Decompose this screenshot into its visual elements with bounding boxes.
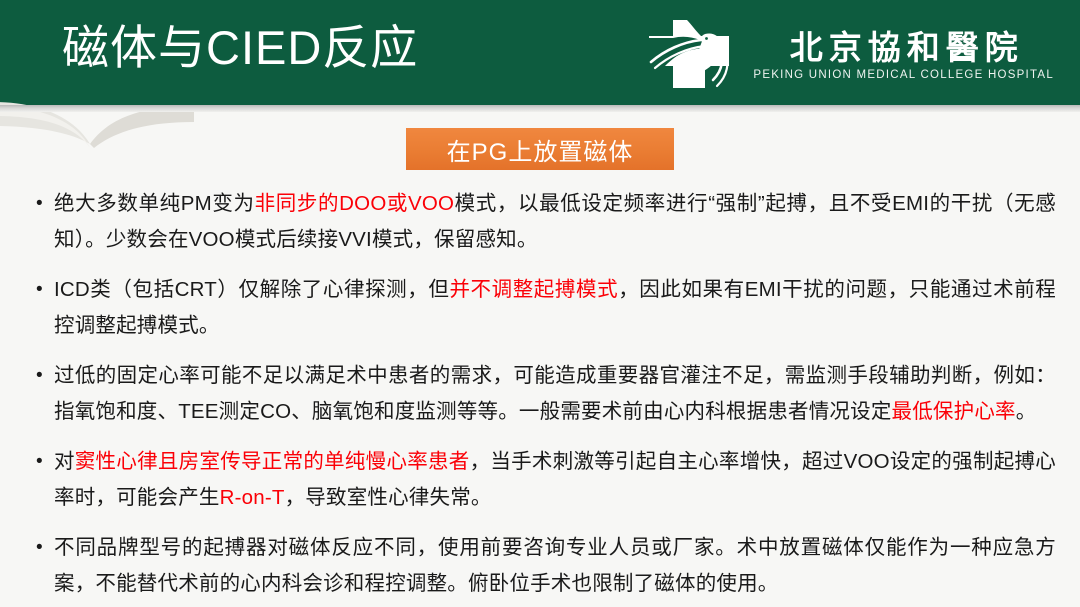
bullet-marker: • xyxy=(30,358,54,394)
bullet-segment-highlight: R-on-T xyxy=(220,486,285,509)
list-item: • 过低的固定心率可能不足以满足术中患者的需求，可能造成重要器官灌注不足，需监测… xyxy=(30,358,1056,430)
bullet-segment-highlight: 并不调整起搏模式 xyxy=(449,278,618,301)
logo-name-en: PEKING UNION MEDICAL COLLEGE HOSPITAL xyxy=(753,69,1054,81)
bullet-marker: • xyxy=(30,530,54,566)
list-item: • 对窦性心律且房室传导正常的单纯慢心率患者，当手术刺激等引起自主心率增快，超过… xyxy=(30,444,1056,516)
bullet-marker: • xyxy=(30,444,54,480)
header-shadow-divider xyxy=(0,105,1080,112)
list-item: • 不同品牌型号的起搏器对磁体反应不同，使用前要咨询专业人员或厂家。术中放置磁体… xyxy=(30,530,1056,602)
bullet-segment-highlight: 窦性心律且房室传导正常的单纯慢心率患者 xyxy=(75,450,470,473)
bullet-segment: ，导致室性心律失常。 xyxy=(285,486,492,509)
slide-root: 磁体与CIED反应 xyxy=(0,0,1080,607)
logo-text: 北京協和醫院 PEKING UNION MEDICAL COLLEGE HOSP… xyxy=(753,29,1054,82)
header-band: 磁体与CIED反应 xyxy=(0,0,1080,105)
bullet-marker: • xyxy=(30,186,54,222)
bullet-marker: • xyxy=(30,272,54,308)
bullet-list: • 绝大多数单纯PM变为非同步的DOO或VOO模式，以最低设定频率进行“强制”起… xyxy=(30,186,1056,602)
bullet-segment: 绝大多数单纯PM变为 xyxy=(54,192,255,215)
logo-name-cn: 北京協和醫院 xyxy=(784,29,1024,67)
hospital-logo: 北京協和醫院 PEKING UNION MEDICAL COLLEGE HOSP… xyxy=(643,17,1054,93)
section-heading-badge: 在PG上放置磁体 xyxy=(406,128,674,170)
bullet-segment-highlight: 非同步的DOO或VOO xyxy=(255,192,455,215)
bullet-text: 对窦性心律且房室传导正常的单纯慢心率患者，当手术刺激等引起自主心率增快，超过VO… xyxy=(54,444,1056,516)
bullet-segment: 不同品牌型号的起搏器对磁体反应不同，使用前要咨询专业人员或厂家。术中放置磁体仅能… xyxy=(54,536,1056,595)
bullet-text: 过低的固定心率可能不足以满足术中患者的需求，可能造成重要器官灌注不足，需监测手段… xyxy=(54,358,1056,430)
bullet-segment-highlight: 最低保护心率 xyxy=(892,400,1016,423)
bullet-segment: ICD类（包括CRT）仅解除了心律探测，但 xyxy=(54,278,449,301)
leaf-decoration-icon xyxy=(0,92,194,152)
bullet-text: ICD类（包括CRT）仅解除了心律探测，但并不调整起搏模式，因此如果有EMI干扰… xyxy=(54,272,1056,344)
bullet-segment: 对 xyxy=(54,450,75,473)
bullet-text: 不同品牌型号的起搏器对磁体反应不同，使用前要咨询专业人员或厂家。术中放置磁体仅能… xyxy=(54,530,1056,602)
bullet-segment: 。 xyxy=(1016,400,1037,423)
list-item: • ICD类（包括CRT）仅解除了心律探测，但并不调整起搏模式，因此如果有EMI… xyxy=(30,272,1056,344)
page-title: 磁体与CIED反应 xyxy=(62,24,418,71)
bullet-text: 绝大多数单纯PM变为非同步的DOO或VOO模式，以最低设定频率进行“强制”起搏，… xyxy=(54,186,1056,258)
list-item: • 绝大多数单纯PM变为非同步的DOO或VOO模式，以最低设定频率进行“强制”起… xyxy=(30,186,1056,258)
cross-and-bird-emblem-icon xyxy=(643,18,739,92)
